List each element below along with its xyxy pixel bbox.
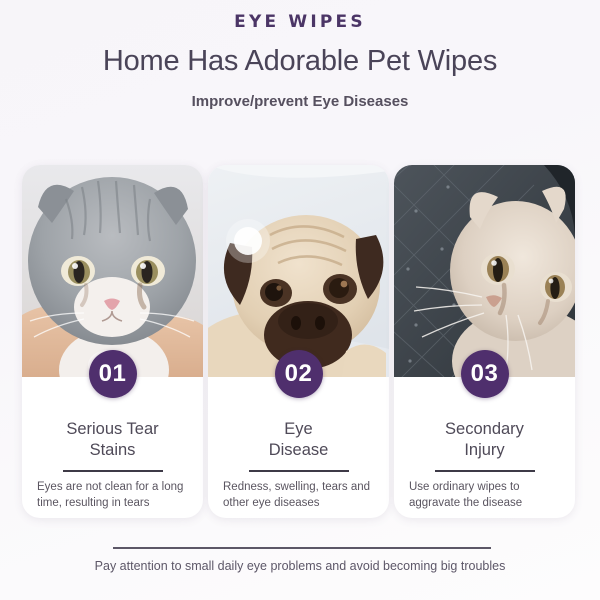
- card-body: Serious Tear Stains Eyes are not clean f…: [22, 377, 203, 518]
- feature-card-3[interactable]: 03 Secondary Injury Use ordinary wipes t…: [394, 165, 575, 518]
- card-body: Eye Disease Redness, swelling, tears and…: [208, 377, 389, 518]
- card-badge-number: 03: [461, 350, 509, 398]
- card-badge-number: 01: [89, 350, 137, 398]
- feature-card-1[interactable]: 01 Serious Tear Stains Eyes are not clea…: [22, 165, 203, 518]
- pug-dog-photo: [208, 165, 389, 377]
- card-description: Use ordinary wipes to aggravate the dise…: [409, 480, 562, 512]
- page-title: Home Has Adorable Pet Wipes: [0, 45, 600, 78]
- card-description: Redness, swelling, tears and other eye d…: [223, 480, 376, 512]
- card-divider: [249, 470, 349, 472]
- header: EYE WIPES Home Has Adorable Pet Wipes Im…: [0, 0, 600, 110]
- promo-page: EYE WIPES Home Has Adorable Pet Wipes Im…: [0, 0, 600, 600]
- card-divider: [63, 470, 163, 472]
- feature-card-row: 01 Serious Tear Stains Eyes are not clea…: [22, 165, 575, 518]
- card-title: Serious Tear Stains: [35, 419, 190, 461]
- grey-white-cat-photo: [22, 165, 203, 377]
- card-body: Secondary Injury Use ordinary wipes to a…: [394, 377, 575, 518]
- footer-divider: [113, 547, 491, 549]
- feature-card-2[interactable]: 02 Eye Disease Redness, swelling, tears …: [208, 165, 389, 518]
- cream-cat-photo: [394, 165, 575, 377]
- footer-note: Pay attention to small daily eye problem…: [0, 558, 600, 574]
- card-badge-number: 02: [275, 350, 323, 398]
- eyebrow-label: EYE WIPES: [0, 13, 600, 32]
- page-subtitle: Improve/prevent Eye Diseases: [0, 93, 600, 110]
- card-title: Secondary Injury: [407, 419, 562, 461]
- card-description: Eyes are not clean for a long time, resu…: [37, 480, 190, 512]
- card-divider: [435, 470, 535, 472]
- card-title: Eye Disease: [221, 419, 376, 461]
